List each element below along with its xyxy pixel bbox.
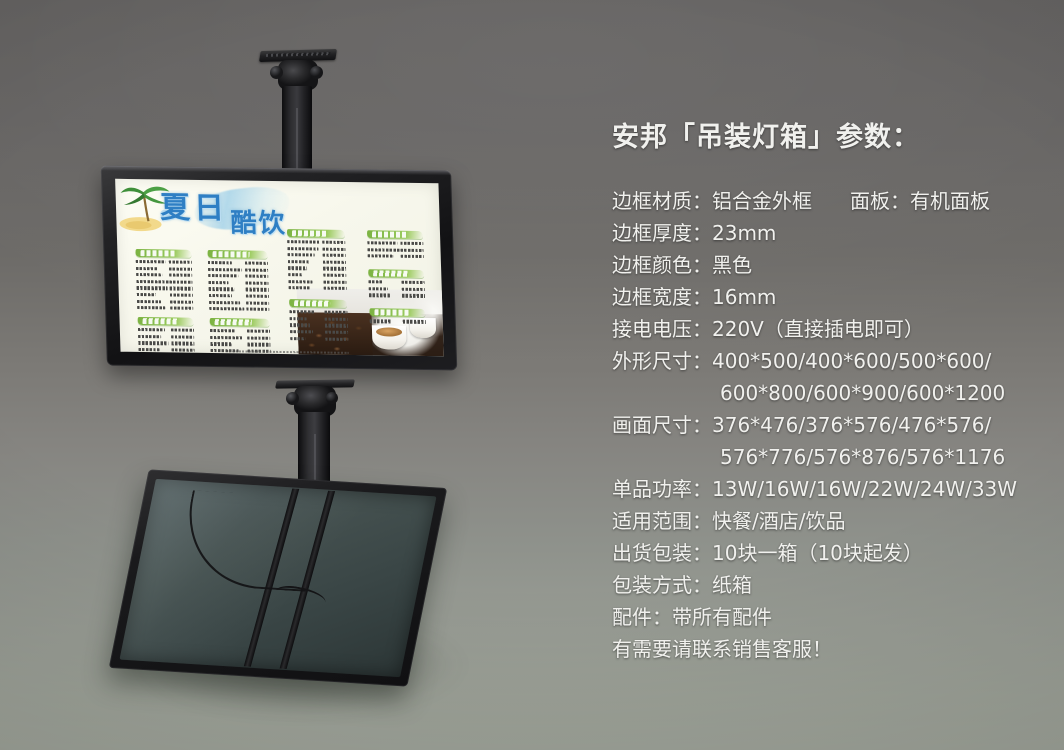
- menu-row: [137, 286, 193, 291]
- spec-label: 边框宽度：: [612, 281, 712, 313]
- menu-row: [288, 253, 346, 258]
- menu-row: [209, 287, 269, 292]
- spec-row-frame-width: 边框宽度： 16mm: [612, 281, 1042, 313]
- lightbox-panel-face: 夏 日 酷 饮: [115, 179, 444, 356]
- pivot-knob-lower-left-icon: [286, 392, 299, 405]
- menu-row: [290, 337, 348, 342]
- menu-row: [136, 273, 192, 278]
- product-photo-scene: 夏 日 酷 饮: [0, 0, 1064, 750]
- menu-section-header: [369, 309, 426, 318]
- menu-section-header: [287, 229, 346, 238]
- menu-poster: 夏 日 酷 饮: [115, 179, 444, 356]
- spec-row-picture-size: 画面尺寸： 376*476/376*576/476*576/: [612, 409, 1042, 441]
- spec-label: 适用范围：: [612, 505, 712, 537]
- spec-extra-panel: 面板：有机面板: [850, 185, 990, 217]
- spec-title: 安邦「吊装灯箱」参数：: [612, 124, 1042, 151]
- menu-section-header: [207, 250, 268, 259]
- menu-row: [289, 286, 347, 291]
- menu-row: [136, 267, 192, 272]
- menu-row: [290, 323, 348, 328]
- spec-label: 边框材质：: [612, 185, 712, 217]
- menu-row: [138, 335, 194, 340]
- spec-row-packing-method: 包装方式： 纸箱: [612, 569, 1042, 601]
- spec-contact-note: 有需要请联系销售客服！: [612, 633, 1042, 665]
- menu-row: [369, 287, 425, 292]
- menu-row: [288, 260, 346, 265]
- menu-section-header: [289, 299, 348, 308]
- menu-column-4: [367, 230, 426, 327]
- spec-value: 铝合金外框: [712, 185, 812, 217]
- spec-row-picture-size-cont: 576*776/576*876/576*1176: [612, 441, 1042, 473]
- menu-row: [369, 294, 425, 299]
- menu-row: [208, 268, 268, 273]
- spec-panel: 安邦「吊装灯箱」参数： 边框材质： 铝合金外框 面板：有机面板 边框厚度： 23…: [612, 124, 1042, 665]
- spec-label: 边框厚度：: [612, 217, 712, 249]
- menu-row: [137, 293, 193, 298]
- spec-row-frame-thickness: 边框厚度： 23mm: [612, 217, 1042, 249]
- menu-row: [138, 348, 194, 353]
- menu-row: [208, 274, 268, 279]
- spec-label: 包装方式：: [612, 569, 712, 601]
- poster-title-char-4: 饮: [258, 211, 285, 237]
- menu-row: [288, 273, 346, 278]
- spec-row-shipping-pack: 出货包装： 10块一箱（10块起发）: [612, 537, 1042, 569]
- spec-value: 快餐/酒店/饮品: [712, 505, 845, 537]
- menu-columns: [135, 235, 440, 352]
- menu-row: [289, 310, 347, 315]
- menu-section-header: [209, 318, 270, 327]
- spec-label: 边框颜色：: [612, 249, 712, 281]
- spec-row-outer-size-cont: 600*800/600*900/600*1200: [612, 377, 1042, 409]
- menu-row: [208, 261, 268, 266]
- poster-title-char-1: 夏: [160, 193, 191, 223]
- menu-row: [368, 280, 424, 285]
- spec-row-outer-size: 外形尺寸： 400*500/400*600/500*600/: [612, 345, 1042, 377]
- menu-row: [367, 241, 423, 246]
- menu-row: [290, 317, 348, 322]
- spec-value: 400*500/400*600/500*600/: [712, 345, 991, 377]
- menu-section-header: [137, 317, 194, 326]
- poster-title-char-3: 酷: [230, 210, 257, 236]
- spec-row-application: 适用范围： 快餐/酒店/饮品: [612, 505, 1042, 537]
- menu-row: [137, 300, 193, 305]
- spec-label: 外形尺寸：: [612, 345, 712, 377]
- spec-value: 10块一箱（10块起发）: [712, 537, 923, 569]
- spec-label: 接电电压：: [612, 313, 712, 345]
- menu-row: [208, 281, 268, 286]
- menu-row: [368, 254, 424, 259]
- spec-value: 13W/16W/16W/22W/24W/33W: [712, 473, 1017, 505]
- menu-column-2: [207, 250, 271, 356]
- menu-row: [138, 341, 194, 346]
- poster-title-char-2: 日: [194, 194, 225, 224]
- spec-label: 配件：: [612, 601, 672, 633]
- menu-column-1: [135, 249, 195, 356]
- menu-row: [136, 260, 192, 265]
- lightbox-upper-unit: 夏 日 酷 饮: [101, 166, 458, 371]
- pivot-knob-right-icon: [310, 66, 323, 79]
- spec-label: 出货包装：: [612, 537, 712, 569]
- menu-row: [290, 330, 348, 335]
- pivot-knob-lower-right-icon: [326, 392, 338, 404]
- menu-section-header: [135, 249, 192, 258]
- spec-row-frame-color: 边框颜色： 黑色: [612, 249, 1042, 281]
- spec-value: 纸箱: [712, 569, 752, 601]
- menu-row: [136, 280, 192, 285]
- spec-value: 16mm: [712, 281, 776, 313]
- menu-row: [138, 328, 194, 333]
- menu-row: [210, 329, 270, 334]
- spec-value: 376*476/376*576/476*576/: [712, 409, 991, 441]
- spec-value: 带所有配件: [672, 601, 772, 633]
- menu-row: [287, 247, 345, 252]
- menu-row: [209, 294, 269, 299]
- menu-row: [137, 306, 193, 311]
- menu-section-header: [367, 230, 424, 239]
- menu-section-header: [368, 269, 425, 278]
- menu-column-3: [287, 229, 349, 344]
- spec-row-frame-material: 边框材质： 铝合金外框 面板：有机面板: [612, 185, 1042, 217]
- menu-row: [210, 336, 270, 341]
- lightbox-lower-unit-back: [109, 469, 448, 686]
- menu-row: [210, 342, 270, 347]
- menu-row: [287, 240, 345, 245]
- menu-row: [209, 307, 269, 312]
- spec-value: 220V（直接插电即可）: [712, 313, 924, 345]
- menu-row: [288, 267, 346, 272]
- spec-row-voltage: 接电电压： 220V（直接插电即可）: [612, 313, 1042, 345]
- menu-row: [367, 248, 423, 253]
- spec-row-accessories: 配件： 带所有配件: [612, 601, 1042, 633]
- spec-row-power: 单品功率： 13W/16W/16W/22W/24W/33W: [612, 473, 1042, 505]
- spec-value: 23mm: [712, 217, 776, 249]
- spec-value: 黑色: [712, 249, 752, 281]
- menu-row: [370, 320, 426, 325]
- spec-label: 单品功率：: [612, 473, 712, 505]
- menu-row: [288, 280, 346, 285]
- menu-row: [209, 301, 269, 306]
- pivot-knob-left-icon: [270, 66, 283, 79]
- spec-list: 边框材质： 铝合金外框 面板：有机面板 边框厚度： 23mm 边框颜色： 黑色 …: [612, 185, 1042, 633]
- spec-label: 画面尺寸：: [612, 409, 712, 441]
